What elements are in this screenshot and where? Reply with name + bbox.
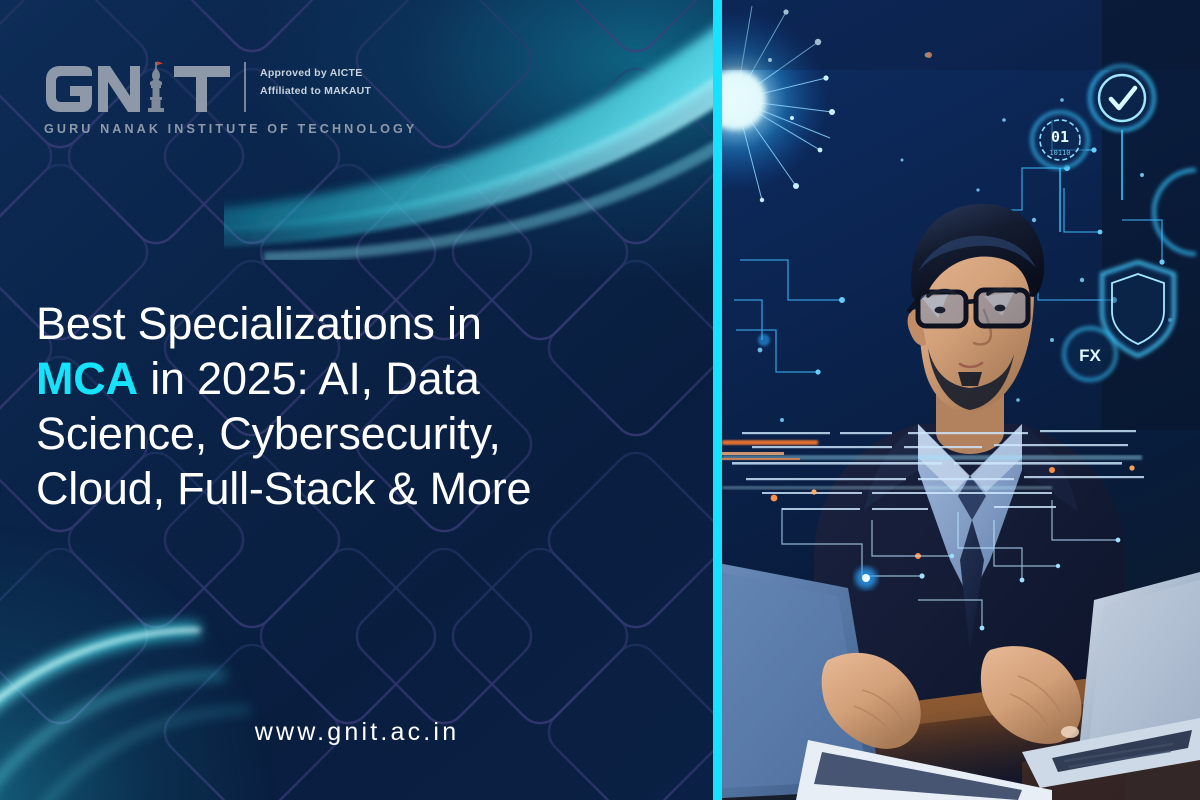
fx-badge-icon: FX xyxy=(1064,328,1116,380)
page-title: Best Specializations inMCA in 2025: AI, … xyxy=(36,296,676,516)
accreditation-line-1: Approved by AICTE xyxy=(260,64,371,82)
promo-banner: Approved by AICTE Affiliated to MAKAUT G… xyxy=(0,0,1200,800)
svg-text:10110: 10110 xyxy=(1049,149,1070,157)
headline-accent-mca: MCA xyxy=(36,353,138,404)
man-with-laptop-illustration: 01 10110 FX xyxy=(722,0,1200,800)
headline-line-4: Cloud, Full-Stack & More xyxy=(36,463,531,514)
accreditation-line-2: Affiliated to MAKAUT xyxy=(260,82,371,100)
binary-badge-label: 01 xyxy=(1051,128,1069,146)
logo-divider xyxy=(244,62,246,112)
gnit-logo[interactable]: Approved by AICTE Affiliated to MAKAUT G… xyxy=(44,58,384,143)
website-url[interactable]: www.gnit.ac.in xyxy=(0,718,714,747)
institute-full-name: GURU NANAK INSTITUTE OF TECHNOLOGY xyxy=(44,122,384,136)
gnit-wordmark-icon xyxy=(44,58,234,120)
accreditation-block: Approved by AICTE Affiliated to MAKAUT xyxy=(260,58,371,100)
left-content-panel: Approved by AICTE Affiliated to MAKAUT G… xyxy=(0,0,714,800)
fx-badge-label: FX xyxy=(1079,346,1101,365)
headline-line-1: Best Specializations in xyxy=(36,298,482,349)
headline-line-3: Science, Cybersecurity, xyxy=(36,408,501,459)
headline-line-2: in 2025: AI, Data xyxy=(138,353,480,404)
vertical-cyan-divider xyxy=(713,0,722,800)
hero-photo-panel: 01 10110 FX xyxy=(722,0,1200,800)
